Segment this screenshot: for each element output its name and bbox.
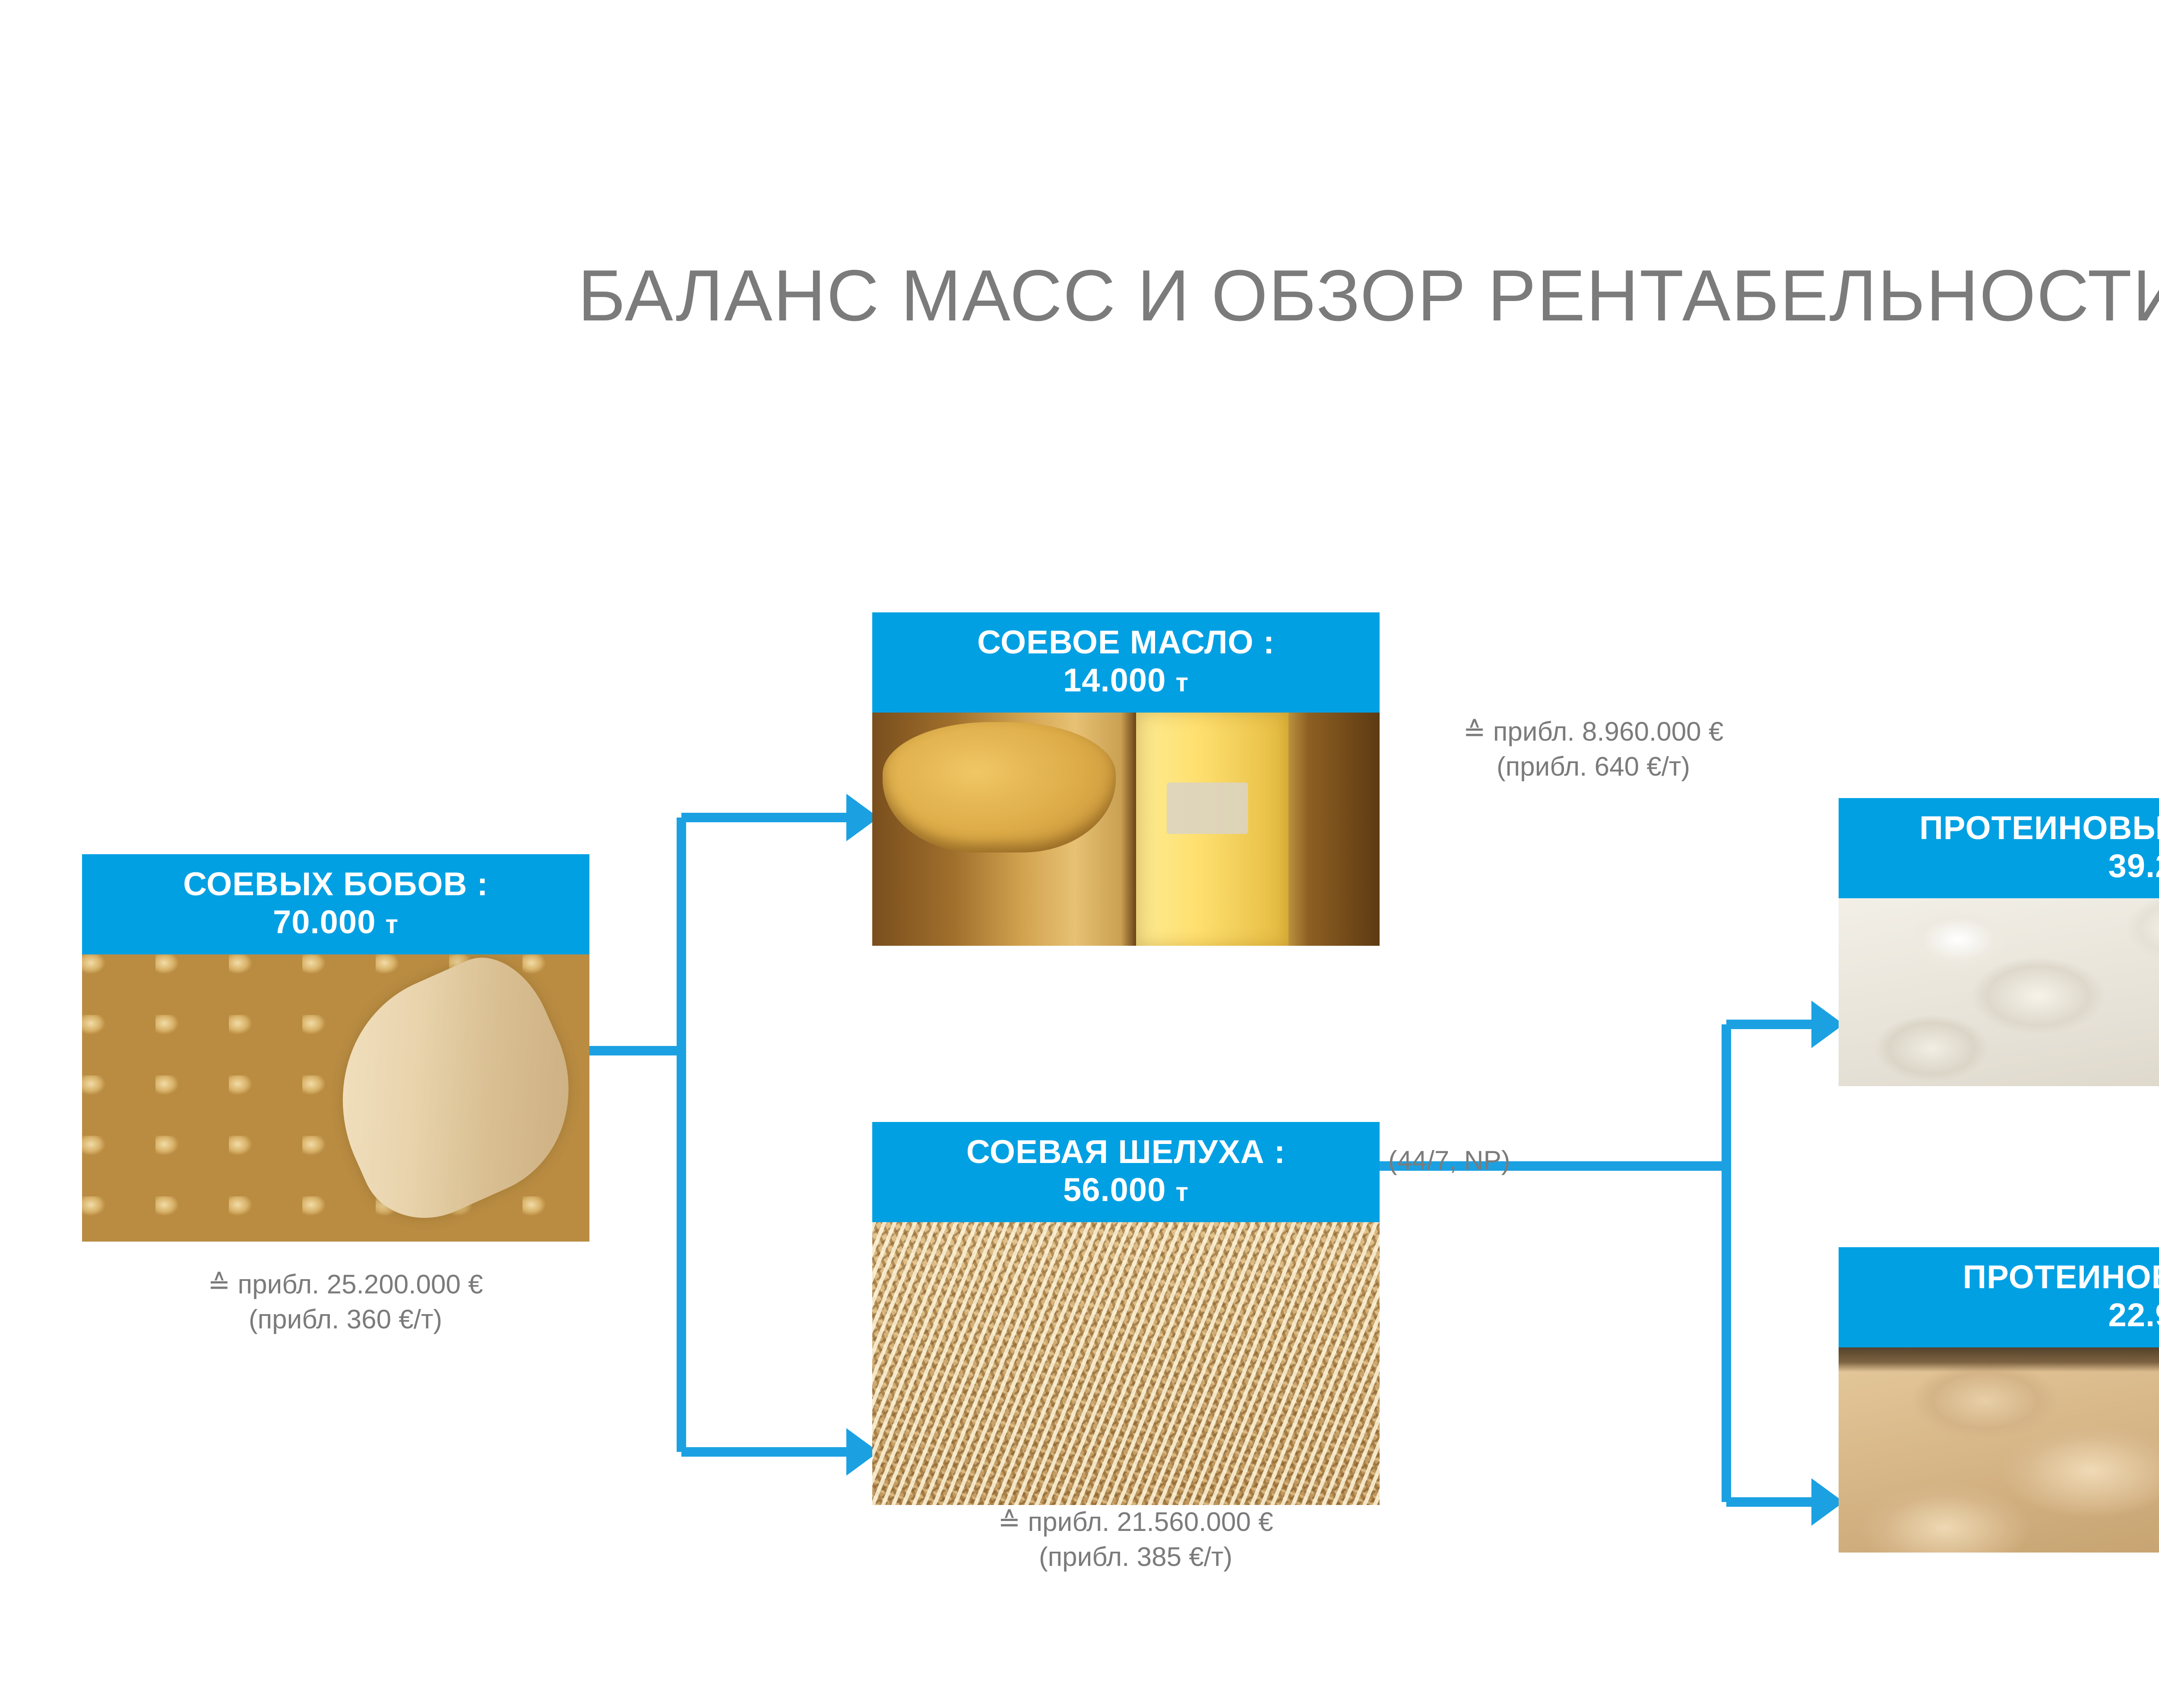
node-unit-soy-husk: т	[1176, 1178, 1189, 1207]
node-amount-soy-oil: 14.000	[1063, 662, 1166, 699]
node-title-protein-concentrate: ПРОТЕИНОВЫЙ КОНЦЕНТРАТ	[1843, 809, 2159, 847]
node-title-soy-husk: СОЕВАЯ ШЕЛУХА :	[877, 1133, 1375, 1171]
node-header-soybeans: СОЕВЫХ БОБОВ : 70.000 т	[82, 854, 589, 954]
caption-soy-oil: ≙ прибл. 8.960.000 € (прибл. 640 €/т)	[1399, 715, 1788, 784]
meal-bowl-shape	[883, 722, 1116, 852]
caption-total-soy-oil: ≙ прибл. 8.960.000 €	[1399, 715, 1788, 750]
wooden-spoon-shape	[300, 954, 589, 1239]
page-title: БАЛАНС МАСС И ОБЗОР РЕНТАБЕЛЬНОСТИ	[0, 259, 2159, 332]
node-amount-soybeans: 70.000	[273, 904, 376, 941]
node-card-soy-husk[interactable]: СОЕВАЯ ШЕЛУХА : 56.000 т	[872, 1122, 1380, 1505]
node-header-protein-concentrate: ПРОТЕИНОВЫЙ КОНЦЕНТРАТ 39.200 т	[1839, 798, 2159, 898]
node-photo-soybeans	[82, 954, 589, 1242]
node-photo-protein-isolate	[1839, 1347, 2159, 1553]
annotation-husk-spec-text: (44/7, NP)	[1388, 1144, 1510, 1179]
node-unit-soy-oil: т	[1176, 668, 1189, 697]
node-header-protein-isolate: ПРОТЕИНОВЫЙ ИЗОЛЯТ 22.910 т	[1839, 1247, 2159, 1347]
node-card-protein-concentrate[interactable]: ПРОТЕИНОВЫЙ КОНЦЕНТРАТ 39.200 т	[1839, 798, 2159, 1086]
node-header-soy-husk: СОЕВАЯ ШЕЛУХА : 56.000 т	[872, 1122, 1380, 1222]
node-photo-soy-oil	[872, 713, 1380, 946]
node-amount-protein-isolate: 22.910	[2108, 1297, 2159, 1334]
caption-total-soybeans: ≙ прибл. 25.200.000 €	[130, 1268, 561, 1302]
caption-unitprice-soybeans: (прибл. 360 €/т)	[130, 1302, 561, 1337]
photo-top-shadow	[1839, 1347, 2159, 1372]
node-card-soybeans[interactable]: СОЕВЫХ БОБОВ : 70.000 т	[82, 854, 589, 1242]
node-amount-protein-concentrate: 39.200	[2108, 848, 2159, 884]
caption-soy-husk: ≙ прибл. 21.560.000 € (прибл. 385 €/т)	[941, 1505, 1330, 1575]
annotation-husk-spec: (44/7, NP)	[1388, 1144, 1510, 1179]
caption-soybeans: ≙ прибл. 25.200.000 € (прибл. 360 €/т)	[130, 1268, 561, 1337]
node-photo-protein-concentrate	[1839, 898, 2159, 1086]
slide-canvas: LTV БАЛАНС МАСС И ОБЗОР РЕНТАБЕЛЬНОСТИ С	[0, 0, 2159, 1708]
node-card-soy-oil[interactable]: СОЕВОЕ МАСЛО : 14.000 т	[872, 612, 1380, 946]
node-title-soy-oil: СОЕВОЕ МАСЛО :	[877, 624, 1375, 662]
caption-unitprice-soy-oil: (прибл. 640 €/т)	[1399, 750, 1788, 785]
node-amount-soy-husk: 56.000	[1063, 1172, 1166, 1208]
node-header-soy-oil: СОЕВОЕ МАСЛО : 14.000 т	[872, 612, 1380, 713]
node-title-protein-isolate: ПРОТЕИНОВЫЙ ИЗОЛЯТ	[1843, 1258, 2159, 1296]
node-photo-soy-husk	[872, 1222, 1380, 1505]
bottle-label-shape	[1167, 783, 1248, 834]
node-unit-soybeans: т	[386, 910, 399, 939]
node-card-protein-isolate[interactable]: ПРОТЕИНОВЫЙ ИЗОЛЯТ 22.910 т	[1839, 1247, 2159, 1553]
caption-total-soy-husk: ≙ прибл. 21.560.000 €	[941, 1505, 1330, 1540]
node-title-soybeans: СОЕВЫХ БОБОВ :	[86, 865, 585, 903]
caption-unitprice-soy-husk: (прибл. 385 €/т)	[941, 1540, 1330, 1575]
